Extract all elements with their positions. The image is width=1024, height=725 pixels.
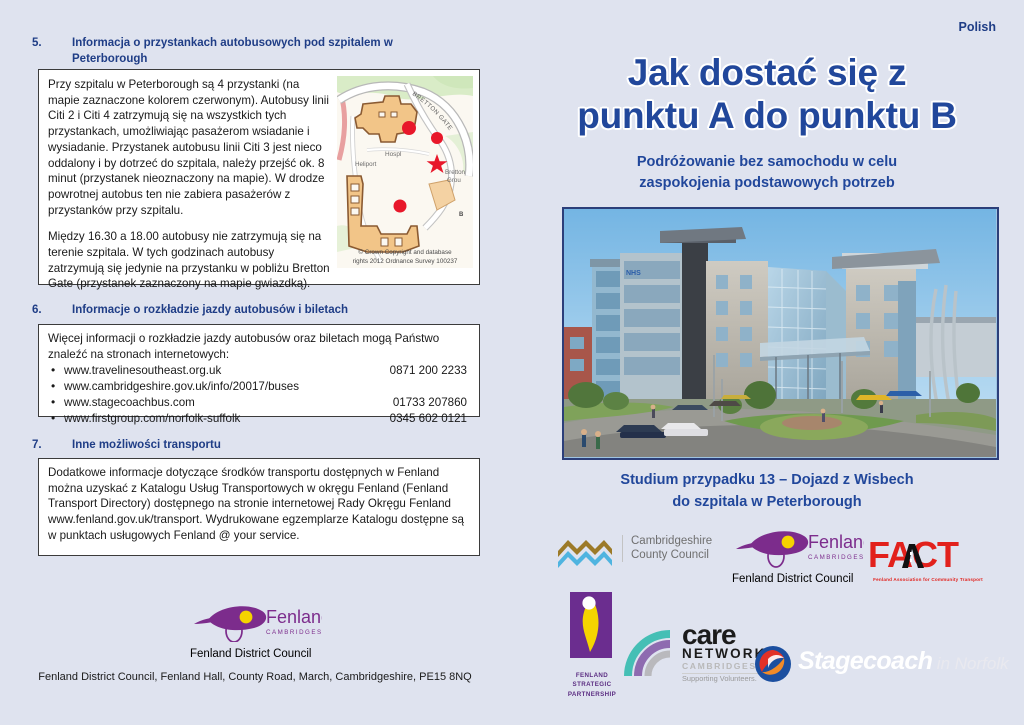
section-5-paragraph-2: Między 16.30 a 18.00 autobusy nie zatrzy… <box>48 229 331 292</box>
section-7-title: Inne możliwości transportu <box>72 438 452 454</box>
link-url[interactable]: www.firstgroup.com/norfolk-suffolk <box>64 411 240 427</box>
stagecoach-wordmark: Stagecoach in Norfolk <box>798 647 1009 676</box>
section-6-intro: Więcej informacji o rozkładzie jazdy aut… <box>48 331 471 362</box>
fenland-logo-icon: Fenland CAMBRIDGESHIRE <box>190 604 322 642</box>
fenland-strategic-partnership-logo: FENLAND STRATEGIC PARTNERSHIP <box>562 592 622 692</box>
map-copyright-line-1: © Crown Copyright and database <box>337 249 473 258</box>
link-phone: 0871 200 2233 <box>390 363 471 379</box>
link-url[interactable]: www.cambridgeshire.gov.uk/info/20017/bus… <box>64 379 299 395</box>
link-phone: 01733 207860 <box>393 395 471 411</box>
map-copyright: © Crown Copyright and database rights 20… <box>337 249 473 266</box>
page-subtitle-line-1: Podróżowanie bez samochodu w celu <box>510 152 1024 173</box>
map-copyright-line-2: rights 2012 Ordnance Survey 100237 <box>337 258 473 267</box>
map-hospital-label: Hospl <box>385 151 401 158</box>
section-6-text: Więcej informacji o rozkładzie jazdy aut… <box>48 331 471 426</box>
link-url[interactable]: www.travelinesoutheast.org.uk <box>64 363 221 379</box>
hospital-photo-graphic: NHS <box>564 209 996 457</box>
fsp-line-3: PARTNERSHIP <box>562 690 622 699</box>
fenland-county-text: CAMBRIDGESHIRE <box>808 554 864 561</box>
fenland-district-council-logo-footer: Fenland CAMBRIDGESHIRE Fenland District … <box>190 604 322 656</box>
section-6-number: 6. <box>32 303 42 319</box>
page-subtitle: Podróżowanie bez samochodu w celu zaspok… <box>510 152 1024 194</box>
section-5-heading: 5. Informacja o przystankach autobusowyc… <box>32 36 452 67</box>
section-5-box: Przy szpitalu w Peterborough są 4 przyst… <box>38 69 480 285</box>
list-item[interactable]: www.cambridgeshire.gov.uk/info/20017/bus… <box>48 379 471 395</box>
fenland-wordmark: Fenland <box>266 607 322 627</box>
page-title-line-2: punktu A do punktu B <box>510 95 1024 138</box>
stagecoach-roundel-icon <box>754 645 792 683</box>
section-5-number: 5. <box>32 36 42 52</box>
map-graphic: BRETTON GATE Hospl Heliport Bretton Grou… <box>337 76 473 268</box>
cambridgeshire-zigzag-icon <box>556 537 614 573</box>
fsp-text: FENLAND STRATEGIC PARTNERSHIP <box>562 671 622 699</box>
fact-subtitle: Fenland Association for Community Transp… <box>868 577 988 582</box>
fact-letters-icon: FACT <box>868 538 986 572</box>
section-5-paragraph-1: Przy szpitalu w Peterborough są 4 przyst… <box>48 77 331 218</box>
fsp-flame-icon <box>568 592 614 664</box>
stagecoach-region: in Norfolk <box>937 654 1009 673</box>
section-7-text: Dodatkowe informacje dotyczące środków t… <box>48 465 471 544</box>
hospital-photo: NHS <box>562 207 999 460</box>
list-item[interactable]: www.stagecoachbus.com 01733 207860 <box>48 395 471 411</box>
stagecoach-logo: Stagecoach in Norfolk <box>754 644 1004 686</box>
section-7-number: 7. <box>32 438 42 454</box>
section-5-text: Przy szpitalu w Peterborough są 4 przyst… <box>48 77 331 292</box>
footer-address: Fenland District Council, Fenland Hall, … <box>0 671 510 683</box>
language-label: Polish <box>958 20 996 34</box>
map-bus-stop-marker <box>394 200 407 213</box>
map-bretton-label-1: Bretton <box>445 169 466 176</box>
photo-caption-line-1: Studium przypadku 13 – Dojazd z Wisbech <box>510 470 1024 492</box>
cambridgeshire-county-council-logo: Cambridgeshire County Council <box>556 535 711 577</box>
right-column: Polish Jak dostać się z punktu A do punk… <box>510 0 1024 725</box>
fenland-logo-caption: Fenland District Council <box>190 648 322 660</box>
care-network-arc-icon <box>622 628 680 680</box>
link-phone: 0345 602 0121 <box>390 411 471 427</box>
fact-logo: FACT Fenland Association for Community T… <box>868 538 988 580</box>
brochure-page: 5. Informacja o przystankach autobusowyc… <box>0 0 1024 725</box>
fsp-line-1: FENLAND <box>562 671 622 680</box>
link-url[interactable]: www.stagecoachbus.com <box>64 395 195 411</box>
svg-text:NHS: NHS <box>626 270 641 277</box>
stagecoach-word: Stagecoach <box>798 647 932 675</box>
map-bus-stop-marker <box>402 121 416 135</box>
map-heliport-label: Heliport <box>355 161 377 168</box>
fenland-county-text: CAMBRIDGESHIRE <box>266 629 322 636</box>
section-6-title: Informacje o rozkładzie jazdy autobusów … <box>72 303 452 319</box>
cambridgeshire-line-2: County Council <box>631 549 712 563</box>
map-b-label: B <box>459 212 464 218</box>
list-item[interactable]: www.firstgroup.com/norfolk-suffolk 0345 … <box>48 411 471 427</box>
cambridgeshire-text: Cambridgeshire County Council <box>622 535 712 562</box>
fsp-line-2: STRATEGIC <box>562 680 622 689</box>
section-7-paragraph-1: Dodatkowe informacje dotyczące środków t… <box>48 465 471 544</box>
page-title-line-1: Jak dostać się z <box>510 52 1024 95</box>
fenland-logo-caption: Fenland District Council <box>732 573 864 585</box>
page-subtitle-line-2: zaspokojenia podstawowych potrzeb <box>510 173 1024 194</box>
hospital-location-map: BRETTON GATE Hospl Heliport Bretton Grou… <box>337 76 473 268</box>
svg-text:FACT: FACT <box>868 538 959 572</box>
fenland-wordmark: Fenland <box>808 532 864 552</box>
map-bretton-label-2: Grou <box>447 177 461 184</box>
fenland-district-council-logo: Fenland CAMBRIDGESHIRE Fenland District … <box>732 528 864 584</box>
section-6-heading: 6. Informacje o rozkładzie jazdy autobus… <box>32 303 452 319</box>
fenland-logo-icon: Fenland CAMBRIDGESHIRE <box>732 528 864 568</box>
section-7-box: Dodatkowe informacje dotyczące środków t… <box>38 458 480 556</box>
section-6-box: Więcej informacji o rozkładzie jazdy aut… <box>38 324 480 417</box>
link-phone <box>467 379 471 395</box>
bus-info-links-list: www.travelinesoutheast.org.uk 0871 200 2… <box>48 363 471 426</box>
map-bus-stop-marker <box>431 132 443 144</box>
left-column: 5. Informacja o przystankach autobusowyc… <box>0 0 510 725</box>
photo-caption: Studium przypadku 13 – Dojazd z Wisbech … <box>510 470 1024 514</box>
section-7-heading: 7. Inne możliwości transportu <box>32 438 452 454</box>
page-title: Jak dostać się z punktu A do punktu B <box>510 52 1024 138</box>
section-5-title: Informacja o przystankach autobusowych p… <box>72 36 452 67</box>
list-item[interactable]: www.travelinesoutheast.org.uk 0871 200 2… <box>48 363 471 379</box>
cambridgeshire-line-1: Cambridgeshire <box>631 535 712 549</box>
photo-caption-line-2: do szpitala w Peterborough <box>510 492 1024 514</box>
